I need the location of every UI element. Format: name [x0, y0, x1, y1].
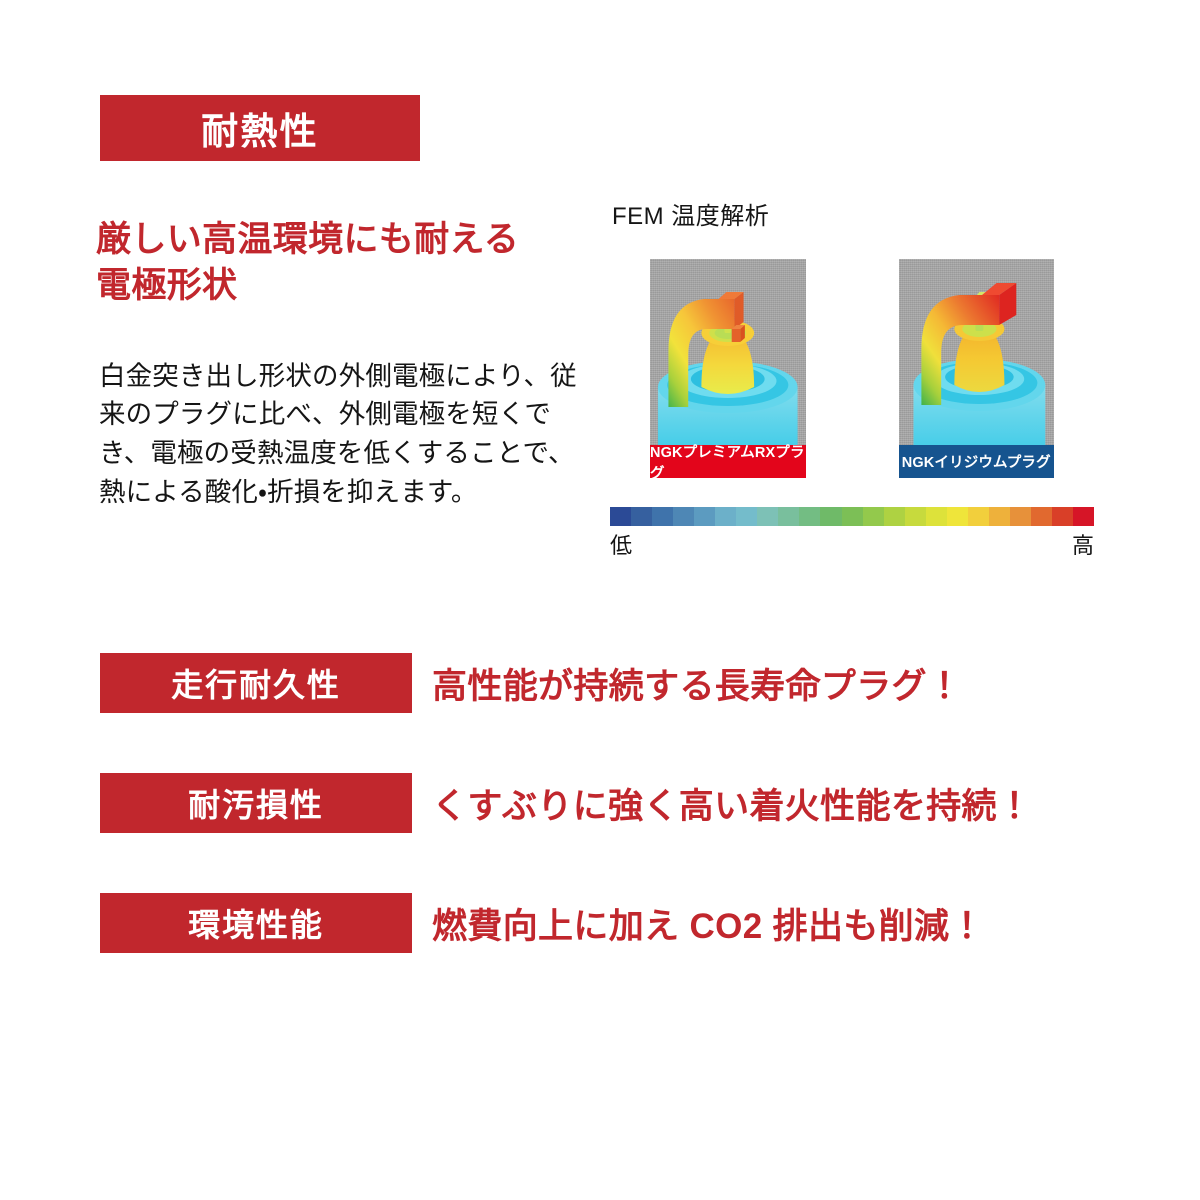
color-scale-segment-4	[694, 507, 715, 526]
color-scale-bar	[610, 507, 1094, 526]
feature-badge-environmental-performance: 環境性能	[100, 893, 412, 953]
feature-text-fouling-resistance: くすぶりに強く高い着火性能を持続！	[432, 773, 1032, 833]
fem-panel-group: NGKプレミアムRXプラグ	[610, 243, 1094, 494]
feature-text-driving-durability: 高性能が持続する長寿命プラグ！	[432, 653, 962, 713]
color-scale-segment-0	[610, 507, 631, 526]
color-scale-segment-15	[926, 507, 947, 526]
color-scale-segment-12	[863, 507, 884, 526]
color-scale-segment-5	[715, 507, 736, 526]
fem-panel-premium-rx: NGKプレミアムRXプラグ	[650, 259, 806, 478]
color-scale-segment-10	[820, 507, 841, 526]
headline-line-1: 厳しい高温環境にも耐える	[96, 220, 519, 259]
heat-resistance-badge: 耐熱性	[100, 95, 420, 161]
color-scale-segment-18	[989, 507, 1010, 526]
color-scale-segment-3	[673, 507, 694, 526]
feature-badge-driving-durability: 走行耐久性	[100, 653, 412, 713]
scale-high-label: 高	[1072, 528, 1094, 560]
feature-text-environmental-performance: 燃費向上に加え CO2 排出も削減！	[432, 893, 985, 953]
color-scale-segment-19	[1010, 507, 1031, 526]
color-scale-segment-13	[884, 507, 905, 526]
color-scale-segment-6	[736, 507, 757, 526]
feature-row-environmental-performance: 環境性能 燃費向上に加え CO2 排出も削減！	[0, 880, 1200, 1000]
color-scale-segment-22	[1073, 507, 1094, 526]
color-scale-labels: 低 高	[610, 528, 1094, 560]
color-scale-segment-17	[968, 507, 989, 526]
color-scale-segment-8	[778, 507, 799, 526]
scale-low-label: 低	[610, 528, 632, 560]
feature-badge-fouling-resistance: 耐汚損性	[100, 773, 412, 833]
color-scale-segment-20	[1031, 507, 1052, 526]
fem-panel-label-iridium: NGKイリジウムプラグ	[899, 445, 1055, 478]
color-scale-segment-14	[905, 507, 926, 526]
color-scale-segment-16	[947, 507, 968, 526]
feature-row-fouling-resistance: 耐汚損性 くすぶりに強く高い着火性能を持続！	[0, 760, 1200, 880]
fem-analysis-block: FEM 温度解析	[610, 196, 1094, 560]
heat-resistance-section: 耐熱性 厳しい高温環境にも耐える 電極形状 白金突き出し形状の外側電極により、従…	[0, 0, 1200, 600]
fem-panel-label-premium-rx: NGKプレミアムRXプラグ	[650, 445, 806, 478]
headline-line-2: 電極形状	[96, 266, 237, 305]
color-scale-segment-9	[799, 507, 820, 526]
fem-panel-iridium: NGKイリジウムプラグ	[899, 259, 1055, 478]
heat-resistance-headline: 厳しい高温環境にも耐える 電極形状	[96, 217, 596, 308]
color-scale-segment-2	[652, 507, 673, 526]
heat-resistance-body-text: 白金突き出し形状の外側電極により、従来のプラグに比べ、外側電極を短くでき、電極の…	[99, 357, 591, 513]
feature-row-driving-durability: 走行耐久性 高性能が持続する長寿命プラグ！	[0, 640, 1200, 760]
fem-analysis-title: FEM 温度解析	[612, 196, 1094, 231]
color-scale-segment-11	[842, 507, 863, 526]
temperature-color-scale: 低 高	[610, 507, 1094, 560]
color-scale-segment-7	[757, 507, 778, 526]
feature-list: 走行耐久性 高性能が持続する長寿命プラグ！ 耐汚損性 くすぶりに強く高い着火性能…	[0, 640, 1200, 1000]
color-scale-segment-21	[1052, 507, 1073, 526]
color-scale-segment-1	[631, 507, 652, 526]
